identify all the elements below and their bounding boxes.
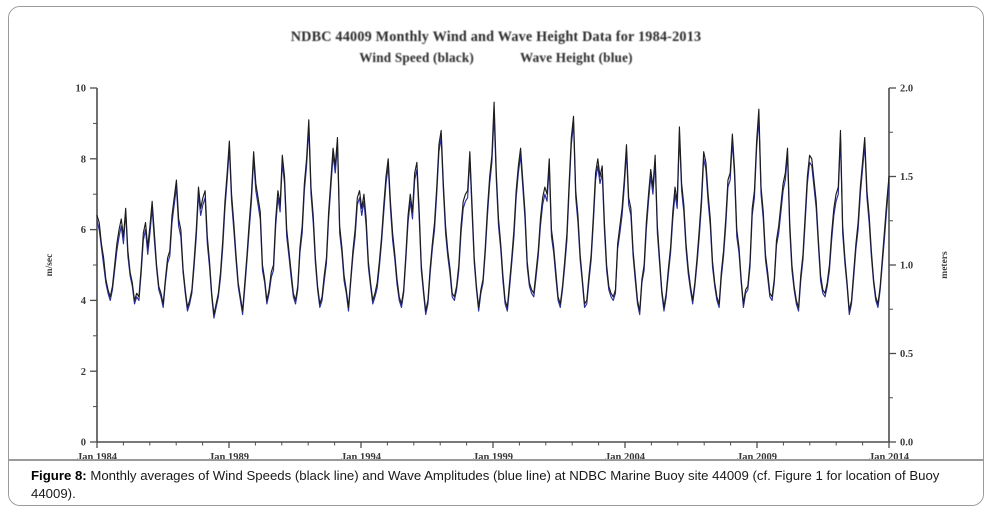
- y-axis-title-right: meters: [940, 251, 950, 279]
- figure-caption: Figure 8: Monthly averages of Wind Speed…: [9, 461, 983, 506]
- y-axis-title-left: m/sec: [45, 254, 55, 277]
- svg-text:6: 6: [81, 225, 86, 236]
- caption-text: Figure 8: Monthly averages of Wind Speed…: [31, 467, 969, 504]
- figure-number: Figure 8:: [31, 468, 87, 483]
- svg-text:Jan 2014: Jan 2014: [869, 452, 910, 459]
- svg-text:1.5: 1.5: [900, 172, 913, 183]
- svg-text:Jan 2009: Jan 2009: [737, 452, 777, 459]
- svg-text:Jan 1994: Jan 1994: [341, 452, 382, 459]
- svg-text:1.0: 1.0: [900, 261, 913, 272]
- svg-text:0.0: 0.0: [900, 438, 913, 449]
- left-axis-ticks: 0246810: [76, 84, 98, 449]
- figure-frame: NDBC 44009 Monthly Wind and Wave Height …: [8, 6, 984, 506]
- plot-wrapper: 0246810 0.00.51.01.52.0 Jan 1984Jan 1989…: [9, 7, 983, 459]
- svg-text:10: 10: [76, 84, 87, 95]
- svg-text:2: 2: [81, 367, 86, 378]
- svg-text:0: 0: [81, 438, 86, 449]
- svg-text:8: 8: [81, 154, 86, 165]
- caption-body: Monthly averages of Wind Speeds (black l…: [31, 468, 939, 502]
- svg-text:Jan 1984: Jan 1984: [77, 452, 118, 459]
- wind-speed-series: [97, 102, 889, 314]
- svg-text:Jan 1989: Jan 1989: [209, 452, 249, 459]
- chart-plot: 0246810 0.00.51.01.52.0 Jan 1984Jan 1989…: [9, 7, 983, 459]
- svg-text:2.0: 2.0: [900, 84, 913, 95]
- screenshot-page: NDBC 44009 Monthly Wind and Wave Height …: [0, 0, 998, 517]
- svg-text:0.5: 0.5: [900, 349, 913, 360]
- svg-text:Jan 2004: Jan 2004: [605, 452, 646, 459]
- svg-text:4: 4: [81, 296, 87, 307]
- chart-area: NDBC 44009 Monthly Wind and Wave Height …: [9, 7, 983, 459]
- wave-height-series: [97, 115, 889, 319]
- right-axis-ticks: 0.00.51.01.52.0: [889, 84, 913, 449]
- svg-text:Jan 1999: Jan 1999: [473, 452, 513, 459]
- x-axis-ticks: Jan 1984Jan 1989Jan 1994Jan 1999Jan 2004…: [77, 442, 910, 459]
